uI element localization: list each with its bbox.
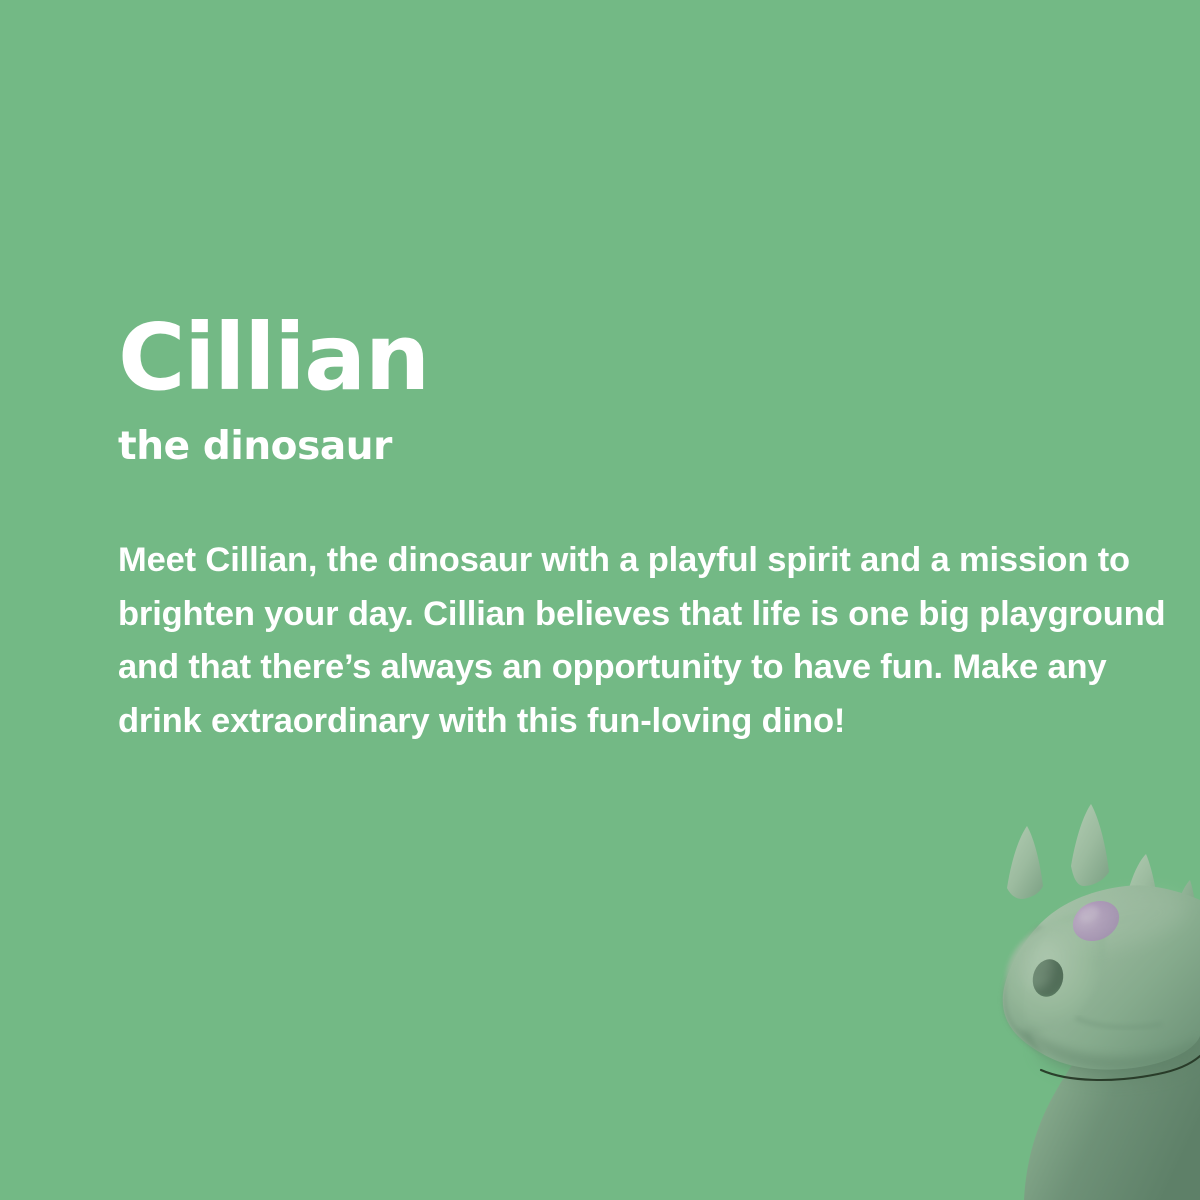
head-sheen: [1052, 881, 1192, 959]
dinosaur-illustration: [900, 780, 1200, 1200]
dinosaur-back-spikes: [1172, 880, 1200, 986]
neck-shadow: [1040, 1018, 1196, 1078]
dinosaur-neck: [1024, 1028, 1200, 1200]
head-left-rim: [1003, 926, 1050, 1056]
poster-canvas: Cillian the dinosaur Meet Cillian, the d…: [0, 0, 1200, 1200]
chin-shadow: [1024, 1028, 1200, 1070]
character-text-block: Cillian the dinosaur Meet Cillian, the d…: [118, 312, 1188, 748]
jaw-crease: [1076, 1018, 1162, 1027]
page-title: Cillian: [118, 312, 1188, 404]
dinosaur-nostril: [1016, 946, 1067, 1000]
character-subtitle: the dinosaur: [118, 427, 1188, 466]
character-description: Meet Cillian, the dinosaur with a playfu…: [118, 534, 1180, 748]
dinosaur-collar-line: [1041, 1056, 1200, 1080]
dinosaur-crest-spikes: [1007, 804, 1159, 917]
dinosaur-head: [1003, 885, 1200, 1069]
dinosaur-snout: [1005, 912, 1105, 1033]
dinosaur-eye: [1066, 893, 1126, 948]
